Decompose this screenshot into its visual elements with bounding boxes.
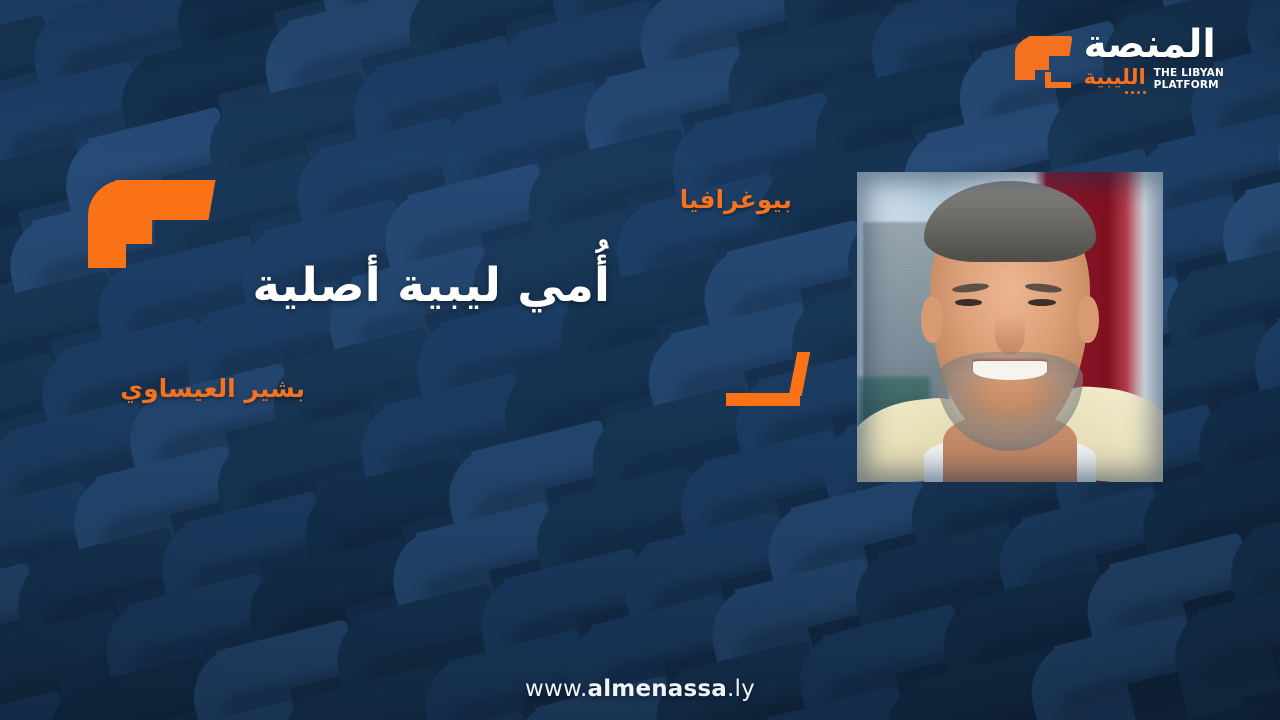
footer-url-tld: .ly bbox=[727, 676, 755, 702]
footer-website-url[interactable]: www.almenassa.ly bbox=[0, 676, 1280, 702]
portrait-photo bbox=[857, 172, 1163, 482]
decorative-hook-right-icon bbox=[726, 352, 806, 406]
brand-logo-english-line1: THE LIBYAN bbox=[1154, 68, 1224, 80]
author-byline: بشير العيساوي bbox=[120, 374, 305, 403]
brand-logo-english: THE LIBYAN PLATFORM bbox=[1154, 68, 1224, 94]
decorative-hook-left-icon bbox=[88, 180, 212, 268]
headline-quote: أُمي ليبية أصلية bbox=[252, 258, 610, 313]
brand-logo[interactable]: المنصة الليبية THE LIBYAN PLATFORM bbox=[1013, 22, 1224, 96]
brand-logo-arabic-sub: الليبية bbox=[1084, 67, 1146, 88]
category-kicker: بيوغرافيا bbox=[680, 185, 792, 214]
brand-logo-wordmark: المنصة الليبية THE LIBYAN PLATFORM bbox=[1084, 25, 1224, 94]
brand-logo-subrow: الليبية THE LIBYAN PLATFORM bbox=[1084, 67, 1224, 94]
brand-logo-arabic-main: المنصة bbox=[1084, 25, 1216, 64]
social-card: المنصة الليبية THE LIBYAN PLATFORM بيوغر… bbox=[0, 0, 1280, 720]
brand-hook-mark-icon bbox=[1013, 22, 1075, 96]
footer-url-prefix: www. bbox=[525, 676, 587, 702]
brand-logo-dots-icon bbox=[1084, 91, 1146, 94]
footer-url-domain: almenassa bbox=[587, 676, 727, 702]
brand-logo-english-line2: PLATFORM bbox=[1154, 80, 1219, 92]
